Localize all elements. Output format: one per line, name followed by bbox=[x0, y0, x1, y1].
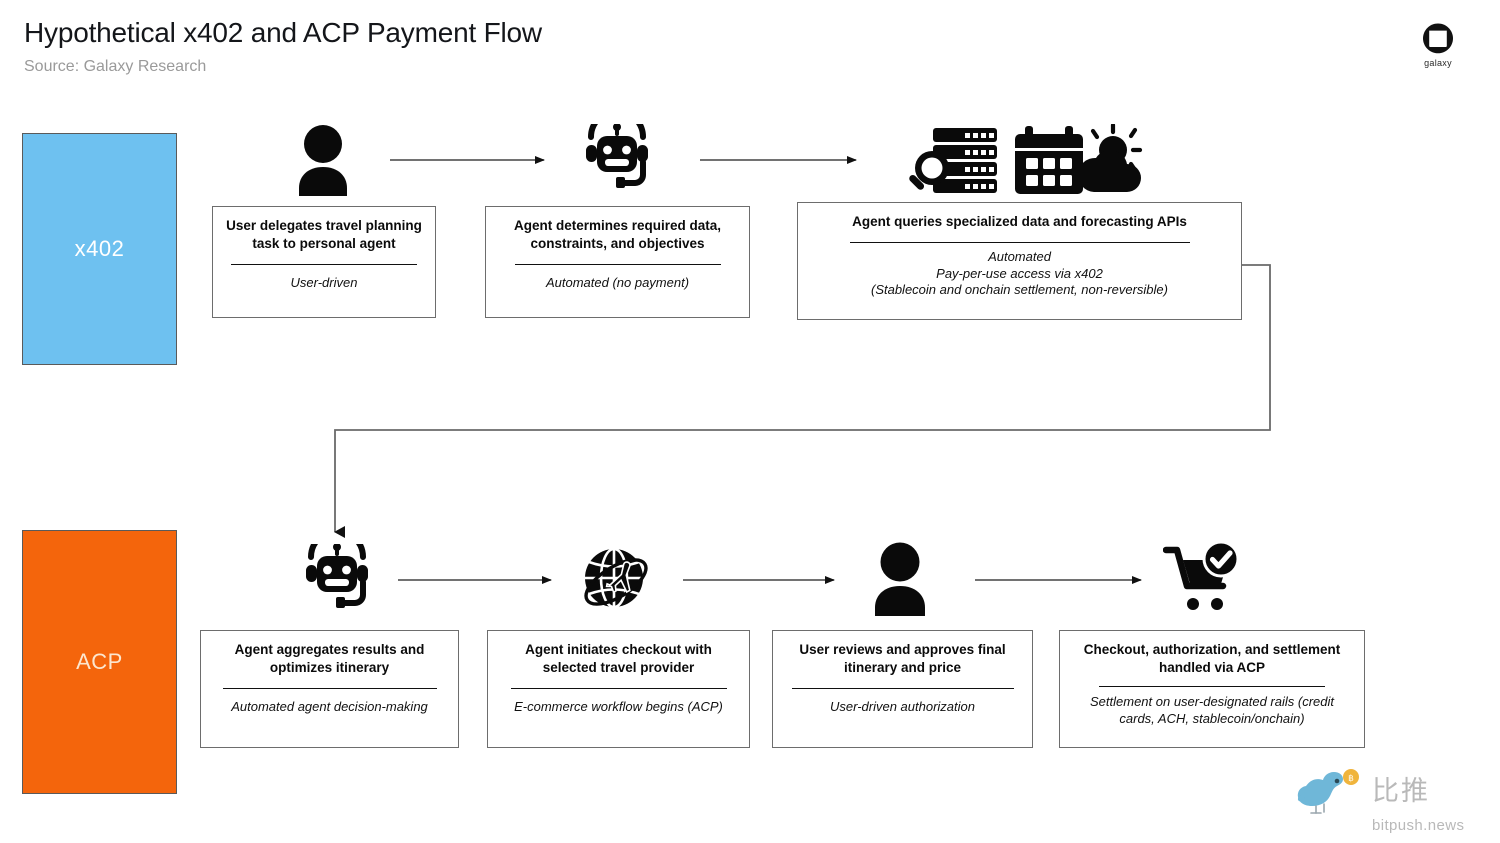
step-subtitle: User-driven authorization bbox=[785, 698, 1020, 715]
step-card-acp-3[interactable]: User reviews and approves final itinerar… bbox=[772, 630, 1033, 748]
step-title: User delegates travel planning task to p… bbox=[225, 217, 423, 253]
step-icon-robot-headset-2 bbox=[300, 544, 374, 616]
step-card-x402-2[interactable]: Agent determines required data, constrai… bbox=[485, 206, 750, 318]
step-subtitle: Settlement on user-designated rails (cre… bbox=[1072, 694, 1352, 728]
step-subtitle: E-commerce workflow begins (ACP) bbox=[500, 698, 737, 715]
step-icon-globe-plane bbox=[578, 542, 654, 618]
step-icon-robot-headset-1 bbox=[580, 124, 654, 196]
card-divider bbox=[515, 264, 721, 265]
rail-label-x402: x402 bbox=[75, 236, 125, 262]
step-card-x402-3[interactable]: Agent queries specialized data and forec… bbox=[797, 202, 1242, 320]
page-subtitle: Source: Galaxy Research bbox=[24, 58, 206, 76]
bitpush-bird-icon: ฿ bbox=[1296, 768, 1366, 814]
step-subtitle: Automated Pay-per-use access via x402 (S… bbox=[810, 249, 1229, 299]
step-icon-data-apis bbox=[903, 124, 1143, 196]
step-icon-cart-check bbox=[1163, 542, 1243, 616]
bitpush-watermark: ฿ 比推 bitpush.news bbox=[1296, 768, 1496, 834]
step-title: Agent initiates checkout with selected t… bbox=[500, 641, 737, 677]
watermark-url: bitpush.news bbox=[1372, 817, 1496, 834]
step-title: Agent queries specialized data and forec… bbox=[810, 213, 1229, 231]
step-title: Checkout, authorization, and settlement … bbox=[1072, 641, 1352, 677]
card-divider bbox=[231, 264, 417, 265]
svg-text:฿: ฿ bbox=[1348, 773, 1354, 783]
rail-block-acp: ACP bbox=[22, 530, 177, 794]
watermark-cn-text: 比推 bbox=[1372, 778, 1430, 805]
step-title: Agent determines required data, constrai… bbox=[498, 217, 737, 253]
step-card-acp-4[interactable]: Checkout, authorization, and settlement … bbox=[1059, 630, 1365, 748]
step-title: Agent aggregates results and optimizes i… bbox=[213, 641, 446, 677]
step-subtitle: User-driven bbox=[225, 274, 423, 291]
card-divider bbox=[1099, 686, 1325, 687]
server-search-icon bbox=[908, 128, 997, 193]
step-icon-user-1 bbox=[292, 124, 354, 196]
galaxy-wordmark: galaxy bbox=[1416, 58, 1460, 68]
card-divider bbox=[850, 242, 1190, 243]
rail-label-acp: ACP bbox=[76, 649, 123, 675]
card-divider bbox=[792, 688, 1014, 689]
rail-block-x402: x402 bbox=[22, 133, 177, 365]
step-icon-user-2 bbox=[868, 542, 932, 616]
card-divider bbox=[511, 688, 727, 689]
galaxy-mark-icon bbox=[1420, 22, 1456, 56]
step-subtitle: Automated agent decision-making bbox=[213, 698, 446, 715]
weather-icon bbox=[1078, 125, 1141, 192]
step-card-x402-1[interactable]: User delegates travel planning task to p… bbox=[212, 206, 436, 318]
step-title: User reviews and approves final itinerar… bbox=[785, 641, 1020, 677]
step-card-acp-1[interactable]: Agent aggregates results and optimizes i… bbox=[200, 630, 459, 748]
step-subtitle: Automated (no payment) bbox=[498, 274, 737, 291]
page-title: Hypothetical x402 and ACP Payment Flow bbox=[24, 17, 542, 49]
galaxy-logo: galaxy bbox=[1416, 22, 1460, 70]
card-divider bbox=[223, 688, 437, 689]
calendar-icon bbox=[1015, 126, 1083, 194]
step-card-acp-2[interactable]: Agent initiates checkout with selected t… bbox=[487, 630, 750, 748]
